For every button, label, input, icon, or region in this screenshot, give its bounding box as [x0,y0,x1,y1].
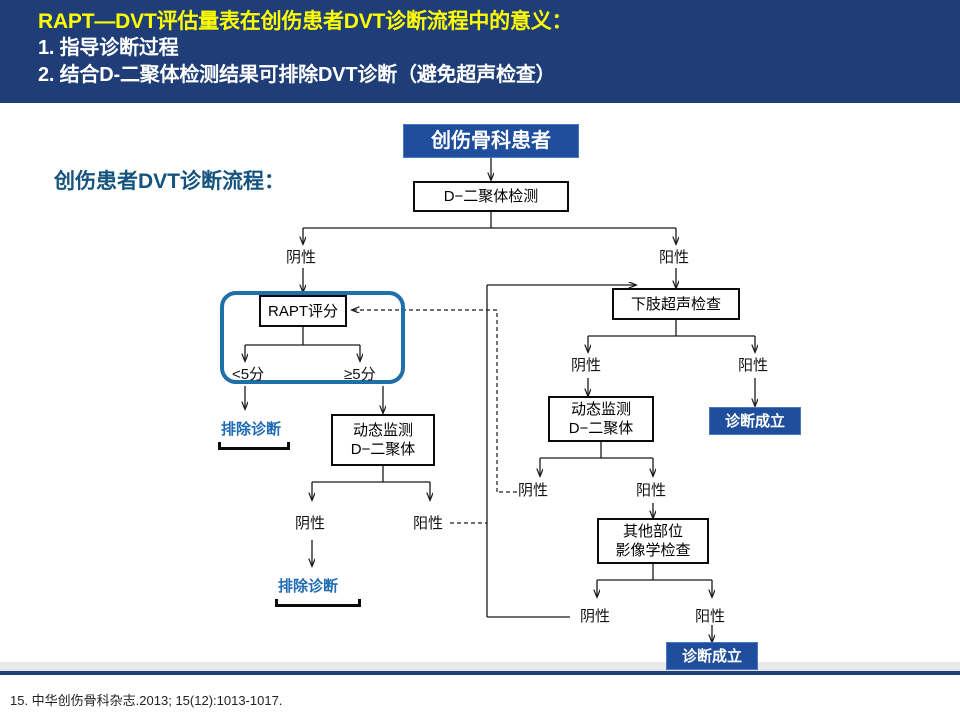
header-line-2: 2. 结合D-二聚体检测结果可排除DVT诊断（避免超声检查） [38,62,960,89]
box-dynamic-monitor-right[interactable]: 动态监测 D−二聚体 [548,396,654,442]
edge-label-us-positive: 阳性 [738,354,768,375]
box-rapt-score[interactable]: RAPT评分 [259,295,347,327]
exclude-diagnosis-2: 排除诊断 [278,575,338,596]
footer-divider-light [0,662,960,671]
header-line-1: 1. 指导诊断过程 [38,35,960,62]
box-trauma-orthopedic-patient[interactable]: 创伤骨科患者 [403,124,579,158]
slide-canvas: RAPT—DVT评估量表在创伤患者DVT诊断流程中的意义： 1. 指导诊断过程 … [0,0,960,720]
box-diagnosis-confirmed-1[interactable]: 诊断成立 [709,407,801,435]
flow-connectors [0,0,960,720]
edge-label-dyn-negative: 阴性 [518,479,548,500]
edge-label-imaging-negative: 阴性 [580,605,610,626]
box-dynamic-monitor-left[interactable]: 动态监测 D−二聚体 [331,414,435,466]
edge-label-dyn-positive: 阳性 [636,479,666,500]
edge-label-ddimer-positive: 阳性 [659,246,689,267]
edge-label-rapt-ge5: ≥5分 [344,363,376,384]
edge-label-left-dyn-negative: 阴性 [295,512,325,533]
box-d-dimer-test[interactable]: D−二聚体检测 [413,181,569,212]
edge-label-us-negative: 阴性 [571,354,601,375]
exclude-diagnosis-1: 排除诊断 [221,418,281,439]
box-diagnosis-confirmed-2[interactable]: 诊断成立 [666,642,758,670]
box-other-site-imaging[interactable]: 其他部位 影像学检查 [597,518,709,564]
box-lower-limb-ultrasound[interactable]: 下肢超声检查 [612,288,740,320]
exclude-diagnosis-bracket-2 [275,599,361,607]
edge-label-imaging-positive: 阳性 [695,605,725,626]
footer-divider [0,671,960,675]
edge-label-rapt-lt5: <5分 [232,363,264,384]
exclude-diagnosis-bracket-1 [218,442,290,450]
section-label: 创伤患者DVT诊断流程： [54,165,285,195]
header-title: RAPT—DVT评估量表在创伤患者DVT诊断流程中的意义： [38,8,960,35]
edge-label-ddimer-negative: 阴性 [286,246,316,267]
edge-label-left-dyn-positive: 阳性 [413,512,443,533]
footer-citation: 15. 中华创伤骨科杂志.2013; 15(12):1013-1017. [10,690,282,709]
header-banner: RAPT—DVT评估量表在创伤患者DVT诊断流程中的意义： 1. 指导诊断过程 … [0,0,960,103]
